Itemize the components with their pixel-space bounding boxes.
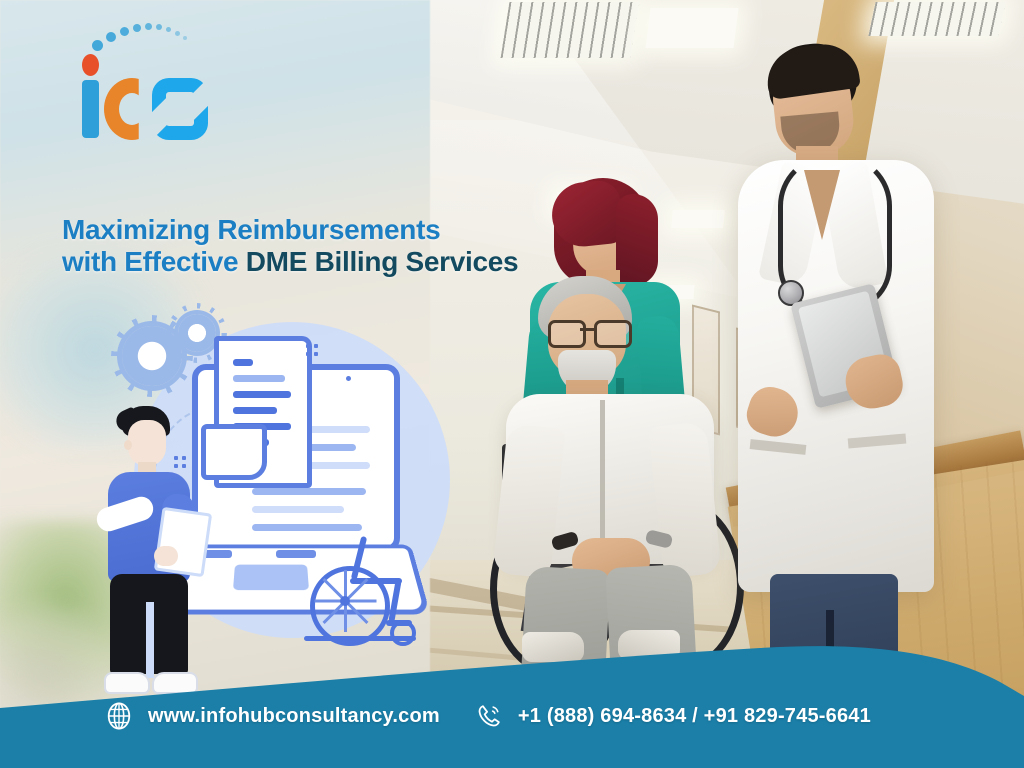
person-ear	[124, 440, 132, 450]
glasses-lens	[594, 320, 632, 348]
ceiling-light	[646, 8, 739, 48]
glasses-lens	[548, 320, 586, 348]
invoice-curl	[201, 424, 267, 480]
footer-phone-text: +1 (888) 694-8634 / +91 829-745-6641	[518, 705, 871, 728]
footer-website-text: www.infohubconsultancy.com	[148, 705, 440, 728]
headline-line-2-prefix: with Effective	[62, 246, 246, 277]
person-face	[128, 420, 166, 466]
globe-icon	[104, 701, 134, 731]
headline-line-1: Maximizing Reimbursements	[62, 214, 622, 246]
banner-canvas: Maximizing Reimbursements with Effective…	[0, 0, 1024, 768]
headline-line-1-text: Maximizing Reimbursements	[62, 214, 440, 245]
clipboard-icon	[154, 507, 212, 577]
footer-contact-bar: www.infohubconsultancy.com +1 (888) 694-…	[0, 664, 1024, 768]
logo-red-dot-icon	[82, 54, 99, 76]
logo-letter-i	[82, 80, 99, 138]
headline-line-2: with Effective DME Billing Services	[62, 246, 622, 278]
patient-shirt-placket	[600, 400, 605, 550]
footer-website[interactable]: www.infohubconsultancy.com	[104, 701, 440, 731]
footer-phone[interactable]: +1 (888) 694-8634 / +91 829-745-6641	[474, 701, 871, 731]
ceiling-light-grille	[868, 2, 1005, 36]
ceiling-light-grille	[501, 2, 640, 58]
person-hand	[154, 546, 178, 566]
logo-letter-s	[152, 78, 208, 140]
laptop-trackpad	[233, 565, 309, 590]
page-title: Maximizing Reimbursements with Effective…	[62, 214, 622, 278]
patient-glasses	[548, 320, 628, 342]
doctor-figure	[726, 44, 956, 674]
footer-banner: www.infohubconsultancy.com +1 (888) 694-…	[0, 596, 1024, 768]
nurse-hair-side	[616, 194, 658, 286]
ics-logo[interactable]	[40, 22, 220, 140]
gear-icon	[178, 314, 216, 352]
headline-line-2-emphasis: DME Billing Services	[246, 246, 519, 277]
phone-call-icon	[474, 701, 504, 731]
